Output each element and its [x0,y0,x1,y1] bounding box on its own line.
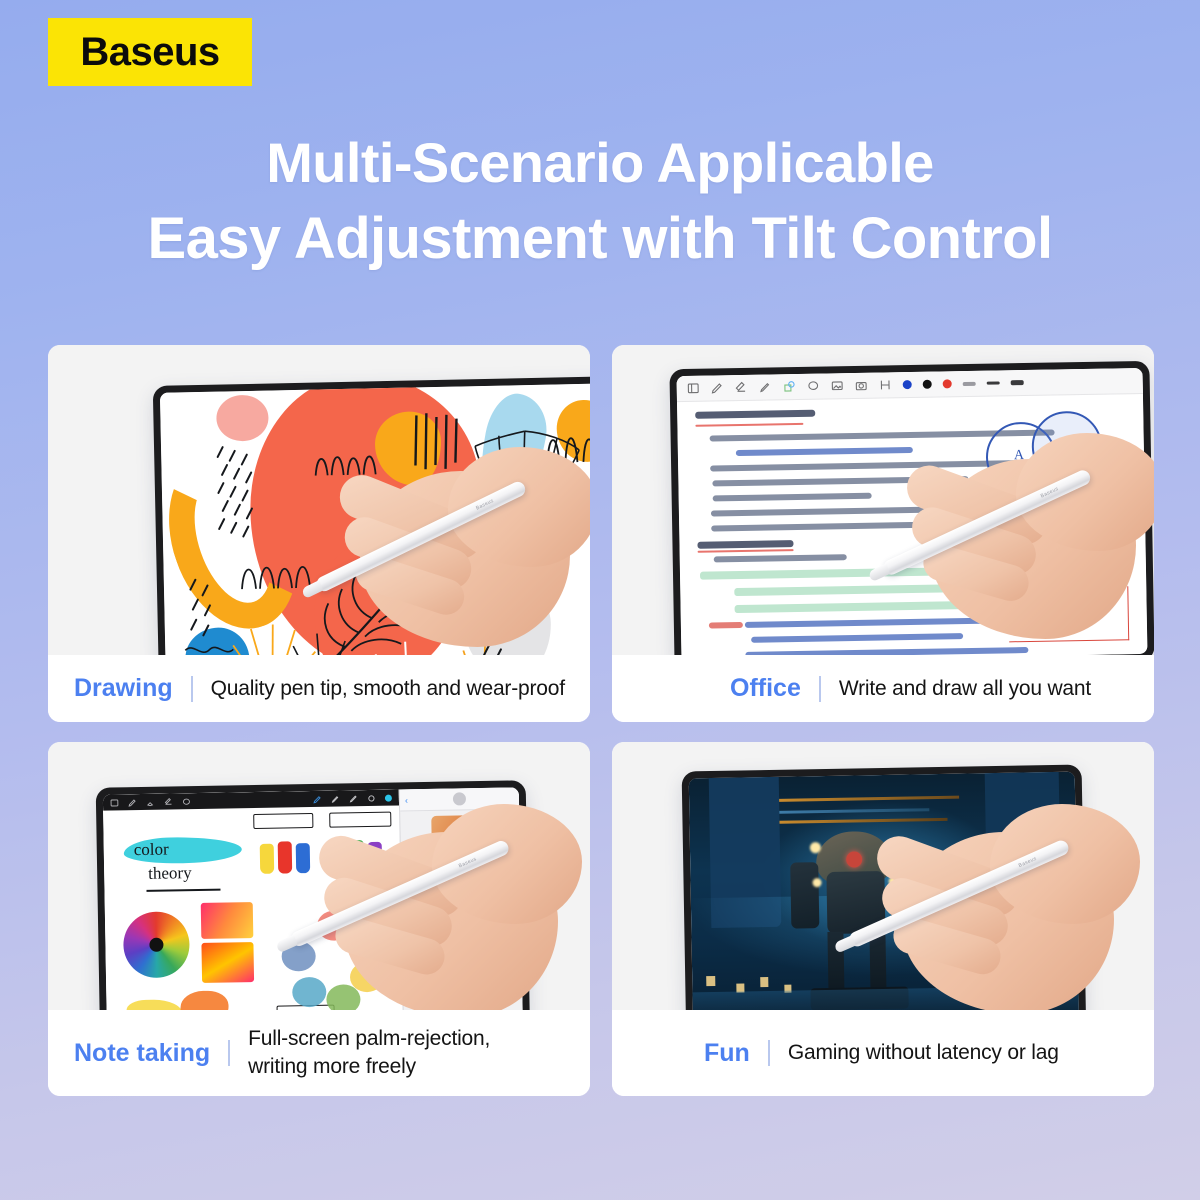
game-scene-mech [689,772,1080,1010]
reference-image-1 [201,902,254,939]
feature-card-office[interactable]: A B C Baseus [612,345,1154,722]
pen-icon[interactable] [128,798,137,807]
baseus-logo: Baseus [48,18,252,86]
message-photo [431,815,489,844]
messages-thread [400,809,522,1004]
camera-icon[interactable] [855,379,868,392]
caption-note-taking: Note taking Full-screen palm-rejection, … [48,1010,590,1096]
drawing-scene: Baseus [48,345,590,655]
note-text-line [711,520,1003,531]
game-water-reflection [692,986,1079,1010]
caption-label-note-taking: Note taking [74,1039,210,1068]
mech-leg-left [827,932,844,996]
caption-label-fun: Fun [704,1039,750,1068]
venn-diagram: A B C [979,404,1131,517]
watercolor-wheel [281,910,387,1010]
venn-label-a: A [1014,448,1024,464]
caption-description-line-1: Full-screen palm-rejection, [248,1027,490,1050]
note-red-annotation [1008,586,1129,642]
tablet-screen-fun [689,772,1080,1010]
feature-card-note-taking[interactable]: color theory [48,742,590,1096]
page-headline: Multi-Scenario Applicable Easy Adjustmen… [0,125,1200,277]
note-highlighted-line [734,584,968,596]
art-squiggle-icon-2 [237,547,328,599]
message-bubble-sent [464,903,516,920]
feature-card-grid: Baseus Drawing Quality pen tip, smooth a… [48,345,1152,1096]
logo-text: Baseus [80,30,219,75]
caption-description-fun: Gaming without latency or lag [788,1039,1059,1067]
feature-card-fun[interactable]: Baseus Fun Gaming without latency or lag [612,742,1154,1096]
note-proof-line [751,633,963,643]
headline-line-1: Multi-Scenario Applicable [0,125,1200,201]
abstract-artwork [160,383,590,655]
caption-label-office: Office [730,674,801,703]
mech-arm-left [790,862,819,928]
swatch-yellow [260,844,275,874]
tablet-device-fun [682,765,1087,1010]
art-squiggle-icon-3 [543,419,590,470]
message-bubble-received [407,944,473,959]
orange-paint-smear [180,990,229,1010]
note-taking-scene: color theory [48,742,590,1010]
marker-icon[interactable] [331,794,340,803]
venn-label-b: B [1062,435,1072,451]
swatch-green [350,840,365,872]
color-dot-red[interactable] [943,379,952,388]
city-light [982,971,990,981]
message-bubble-sent [445,878,515,899]
yellow-paint-smear [126,999,182,1010]
color-theory-word-1: color [134,840,169,861]
active-pen-icon[interactable] [313,794,322,803]
note-heading-underline-2 [698,549,794,553]
back-chevron-icon[interactable]: ‹ [405,795,408,805]
color-dot-black[interactable] [923,380,932,389]
city-light [706,976,715,986]
contact-avatar [453,792,466,805]
caption-label-drawing: Drawing [74,674,173,703]
note-content: A B C [677,394,1147,655]
lasso-icon[interactable] [807,380,820,393]
caption-fun: Fun Gaming without latency or lag [612,1010,1154,1096]
smudge-icon[interactable] [367,793,376,802]
message-bubble-received [406,848,482,875]
pencil-icon[interactable] [349,794,358,803]
mech-torso [826,871,885,934]
caption-divider [768,1040,770,1066]
art-wave-icon [183,641,236,655]
message-bubble-sent [470,924,516,939]
art-pink-smear [216,395,269,442]
tag-primary-colors [253,813,313,829]
caption-description-line-2: writing more freely [248,1055,416,1078]
tag-second-colors [329,812,391,828]
tablet-screen-drawing [160,383,590,655]
venn-label-c: C [1056,479,1066,495]
stroke-weight-thin[interactable] [963,381,976,385]
text-tool-icon[interactable] [879,378,892,391]
drawing-app-pane: color theory [103,789,403,1010]
note-text-line [736,447,913,456]
caption-drawing: Drawing Quality pen tip, smooth and wear… [48,655,590,722]
note-heading-linear-combinations [697,540,793,549]
split-screen: color theory [103,787,523,1010]
note-proof-line [745,647,1028,655]
messages-header: ‹ [400,787,519,811]
fun-scene: Baseus [612,742,1154,1010]
swatch-blue [296,843,311,873]
color-wheel [123,911,190,978]
lasso-icon[interactable] [182,797,191,806]
eraser-icon[interactable] [164,797,173,806]
city-light [760,977,768,987]
caption-divider [191,676,193,702]
swatch-purple [368,842,383,872]
color-theory-word-2: theory [148,863,192,884]
city-light [930,974,938,983]
color-dot-blue[interactable] [903,380,912,389]
eraser-icon[interactable] [735,381,748,394]
art-squiggle-icon [311,440,382,481]
art-orange-sprig-icon [437,635,529,655]
caption-divider [228,1040,230,1066]
note-heading-direct-sum [695,410,815,419]
sidebar-icon[interactable] [110,798,119,807]
caption-description-drawing: Quality pen tip, smooth and wear-proof [211,675,565,703]
tablet-device-note-taking: color theory [96,780,531,1010]
current-color-dot[interactable] [385,794,392,801]
feature-card-drawing[interactable]: Baseus Drawing Quality pen tip, smooth a… [48,345,590,722]
art-scribble-icon [406,406,467,477]
mech-light-arm-right [888,877,897,886]
office-scene: A B C Baseus [612,345,1154,655]
sidebar-icon[interactable] [687,382,700,395]
brush-icon[interactable] [146,797,155,806]
drawing-app-toolbar[interactable] [103,789,399,810]
headline-line-2: Easy Adjustment with Tilt Control [0,201,1200,277]
note-heading-underline [695,423,803,427]
hud-bar-2 [779,808,929,814]
note-app: A B C [677,368,1148,655]
tablet-screen-note-taking: color theory [103,787,523,1010]
hud-bar-1 [779,796,959,802]
image-icon[interactable] [831,379,844,392]
stroke-weight-medium[interactable] [987,381,1000,384]
mech-light-right [886,841,897,852]
pen-icon[interactable] [711,381,724,394]
caption-office: Office Write and draw all you want [612,655,1154,722]
swatch-orange [332,842,347,872]
caption-description-office: Write and draw all you want [839,675,1091,703]
caption-description-note-taking: Full-screen palm-rejection, writing more… [248,1025,490,1081]
mech-leg-right [869,931,886,995]
note-highlighted-line [700,566,1013,579]
color-theory-underline [146,889,220,892]
shape-tool-icon[interactable] [783,380,796,393]
note-text-line [713,493,872,502]
stroke-weight-thick[interactable] [1011,380,1024,385]
caption-divider [819,676,821,702]
message-bubble-sent [439,962,518,993]
note-highlighted-line [735,601,987,613]
mech-arm-right [890,860,919,926]
note-text-line [714,554,847,562]
note-text-line [712,476,968,486]
marker-icon[interactable] [759,380,772,393]
tablet-device-drawing [153,376,590,655]
note-proof-line [745,617,1046,628]
tablet-device-office: A B C [669,361,1154,655]
messages-app-pane: ‹ [399,787,523,1010]
hud-bar-3 [779,818,947,824]
mech-light-arm-left [812,878,821,887]
swatch-red [278,841,293,873]
note-proof-label [709,622,743,629]
tablet-screen-office: A B C [677,368,1148,655]
reference-image-2 [201,942,254,983]
